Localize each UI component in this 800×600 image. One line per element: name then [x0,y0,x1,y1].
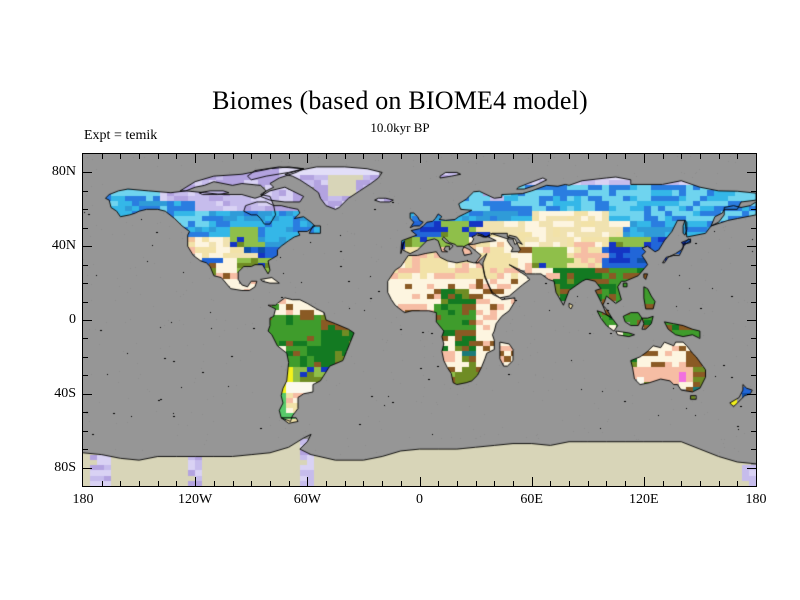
x-tick-bottom--150 [139,481,140,486]
x-tick-20 [457,154,458,159]
x-tick-bottom-20 [457,481,458,486]
y-tick-right--50 [751,412,756,413]
x-tick-bottom--160 [120,481,121,486]
y-tick-right--10 [751,338,756,339]
y-tick--10 [83,338,88,339]
biome-map-canvas [83,154,756,486]
y-tick-right--40 [747,394,756,395]
y-tick--80 [83,468,92,469]
x-tick-bottom-50 [513,481,514,486]
x-tick-bottom-80 [569,481,570,486]
x-tick--50 [326,154,327,159]
y-tick-80 [83,172,92,173]
y-axis-label-80N: 80N [16,164,76,180]
x-tick-bottom-90 [588,481,589,486]
x-tick-bottom-150 [700,481,701,486]
x-tick-bottom-40 [494,481,495,486]
x-tick--170 [102,154,103,159]
experiment-label: Expt = temik [84,128,157,144]
x-tick-bottom--80 [270,481,271,486]
x-tick-bottom--90 [251,481,252,486]
x-tick--110 [214,154,215,159]
x-tick-bottom-120 [644,477,645,486]
x-tick--60 [307,154,308,163]
x-tick-40 [494,154,495,159]
x-tick-bottom--50 [326,481,327,486]
y-axis-label-80S: 80S [16,460,76,476]
y-tick-40 [83,246,92,247]
x-tick-bottom-30 [476,481,477,486]
x-tick--30 [363,154,364,159]
x-tick-bottom-110 [625,481,626,486]
x-tick-150 [700,154,701,159]
y-tick-right-10 [751,302,756,303]
x-axis-label-180: 180 [53,492,113,508]
y-tick-10 [83,302,88,303]
x-axis-label-120E: 120E [614,492,674,508]
x-axis-label-60W: 60W [277,492,337,508]
x-tick-0 [420,154,421,163]
x-tick--70 [289,154,290,159]
x-tick--130 [176,154,177,159]
x-tick-bottom-130 [663,481,664,486]
x-tick-bottom--30 [363,481,364,486]
x-tick-160 [719,154,720,159]
x-tick-50 [513,154,514,159]
y-tick-0 [83,320,92,321]
y-tick--50 [83,412,88,413]
y-tick--30 [83,375,88,376]
x-tick-bottom-100 [606,481,607,486]
x-tick-bottom-170 [737,481,738,486]
y-axis-label-40S: 40S [16,386,76,402]
x-tick-bottom--40 [345,481,346,486]
map-plot-area [82,153,757,487]
y-tick-30 [83,265,88,266]
x-tick--90 [251,154,252,159]
y-tick-right-30 [751,265,756,266]
x-tick-bottom-0 [420,477,421,486]
y-tick-right-40 [747,246,756,247]
x-tick--120 [195,154,196,163]
y-tick-70 [83,191,88,192]
x-tick-bottom-70 [550,481,551,486]
x-axis-label-180: 180 [726,492,786,508]
x-tick-110 [625,154,626,159]
y-tick-60 [83,209,88,210]
x-tick-bottom-140 [681,481,682,486]
x-tick--160 [120,154,121,159]
x-tick-bottom--170 [102,481,103,486]
x-tick--150 [139,154,140,159]
y-tick-right--80 [747,468,756,469]
y-axis-label-40N: 40N [16,238,76,254]
y-tick--60 [83,431,88,432]
y-tick-right-50 [751,228,756,229]
x-tick-bottom-160 [719,481,720,486]
y-tick-right--70 [751,449,756,450]
y-tick-right--30 [751,375,756,376]
y-tick-right-70 [751,191,756,192]
x-tick--20 [382,154,383,159]
x-tick-bottom--130 [176,481,177,486]
x-tick-bottom--140 [158,481,159,486]
x-tick-10 [438,154,439,159]
x-tick-bottom--120 [195,477,196,486]
figure-root: Biomes (based on BIOME4 model) 10.0kyr B… [0,0,800,600]
x-tick-100 [606,154,607,159]
x-axis-label-0: 0 [390,492,450,508]
y-tick-right--20 [751,357,756,358]
x-axis-label-60E: 60E [502,492,562,508]
y-tick-right--60 [751,431,756,432]
x-tick--10 [401,154,402,159]
x-tick-bottom--110 [214,481,215,486]
x-tick-bottom-60 [532,477,533,486]
x-tick-140 [681,154,682,159]
y-tick--40 [83,394,92,395]
x-tick-60 [532,154,533,163]
y-tick-right-20 [751,283,756,284]
x-tick-170 [737,154,738,159]
y-tick--20 [83,357,88,358]
x-tick-bottom--20 [382,481,383,486]
x-tick-70 [550,154,551,159]
y-tick-20 [83,283,88,284]
x-tick-120 [644,154,645,163]
x-tick-130 [663,154,664,159]
x-tick-bottom--10 [401,481,402,486]
y-tick-right-0 [747,320,756,321]
figure-title: Biomes (based on BIOME4 model) [0,86,800,116]
y-axis-label-0: 0 [16,312,76,328]
y-tick-right-80 [747,172,756,173]
x-axis-label-120W: 120W [165,492,225,508]
x-tick-bottom--70 [289,481,290,486]
y-tick-right-60 [751,209,756,210]
x-tick-80 [569,154,570,159]
y-tick--70 [83,449,88,450]
x-tick-90 [588,154,589,159]
x-tick--40 [345,154,346,159]
x-tick-bottom-10 [438,481,439,486]
y-tick-50 [83,228,88,229]
x-tick-bottom--100 [233,481,234,486]
x-tick--80 [270,154,271,159]
x-tick-30 [476,154,477,159]
x-tick-bottom--60 [307,477,308,486]
x-tick--140 [158,154,159,159]
x-tick--100 [233,154,234,159]
